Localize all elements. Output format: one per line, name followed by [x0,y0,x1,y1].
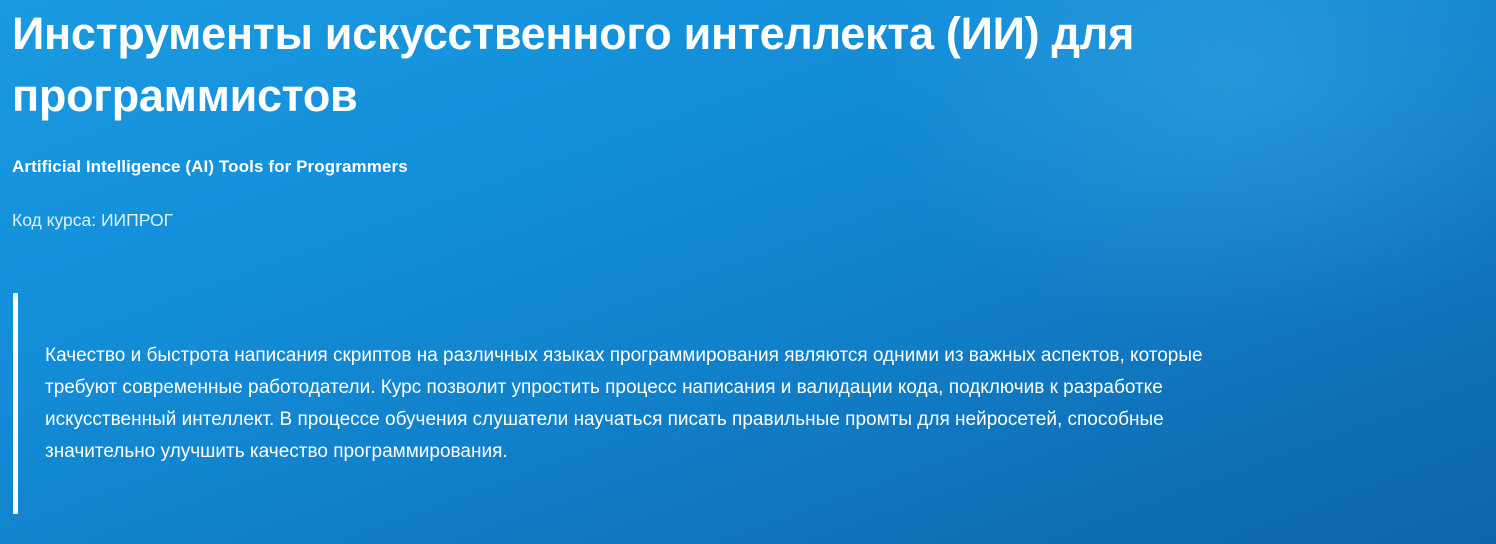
course-hero-banner: Инструменты искусственного интеллекта (И… [0,0,1496,544]
course-description-block: Качество и быстрота написания скриптов н… [12,293,1484,514]
course-subtitle-english: Artificial Intelligence (AI) Tools for P… [12,127,1484,178]
page-title: Инструменты искусственного интеллекта (И… [12,0,1484,127]
course-code: Код курса: ИИПРОГ [12,178,1484,231]
hero-content: Инструменты искусственного интеллекта (И… [0,0,1496,514]
course-description-text: Качество и быстрота написания скриптов н… [45,340,1225,468]
accent-bar [13,293,18,514]
